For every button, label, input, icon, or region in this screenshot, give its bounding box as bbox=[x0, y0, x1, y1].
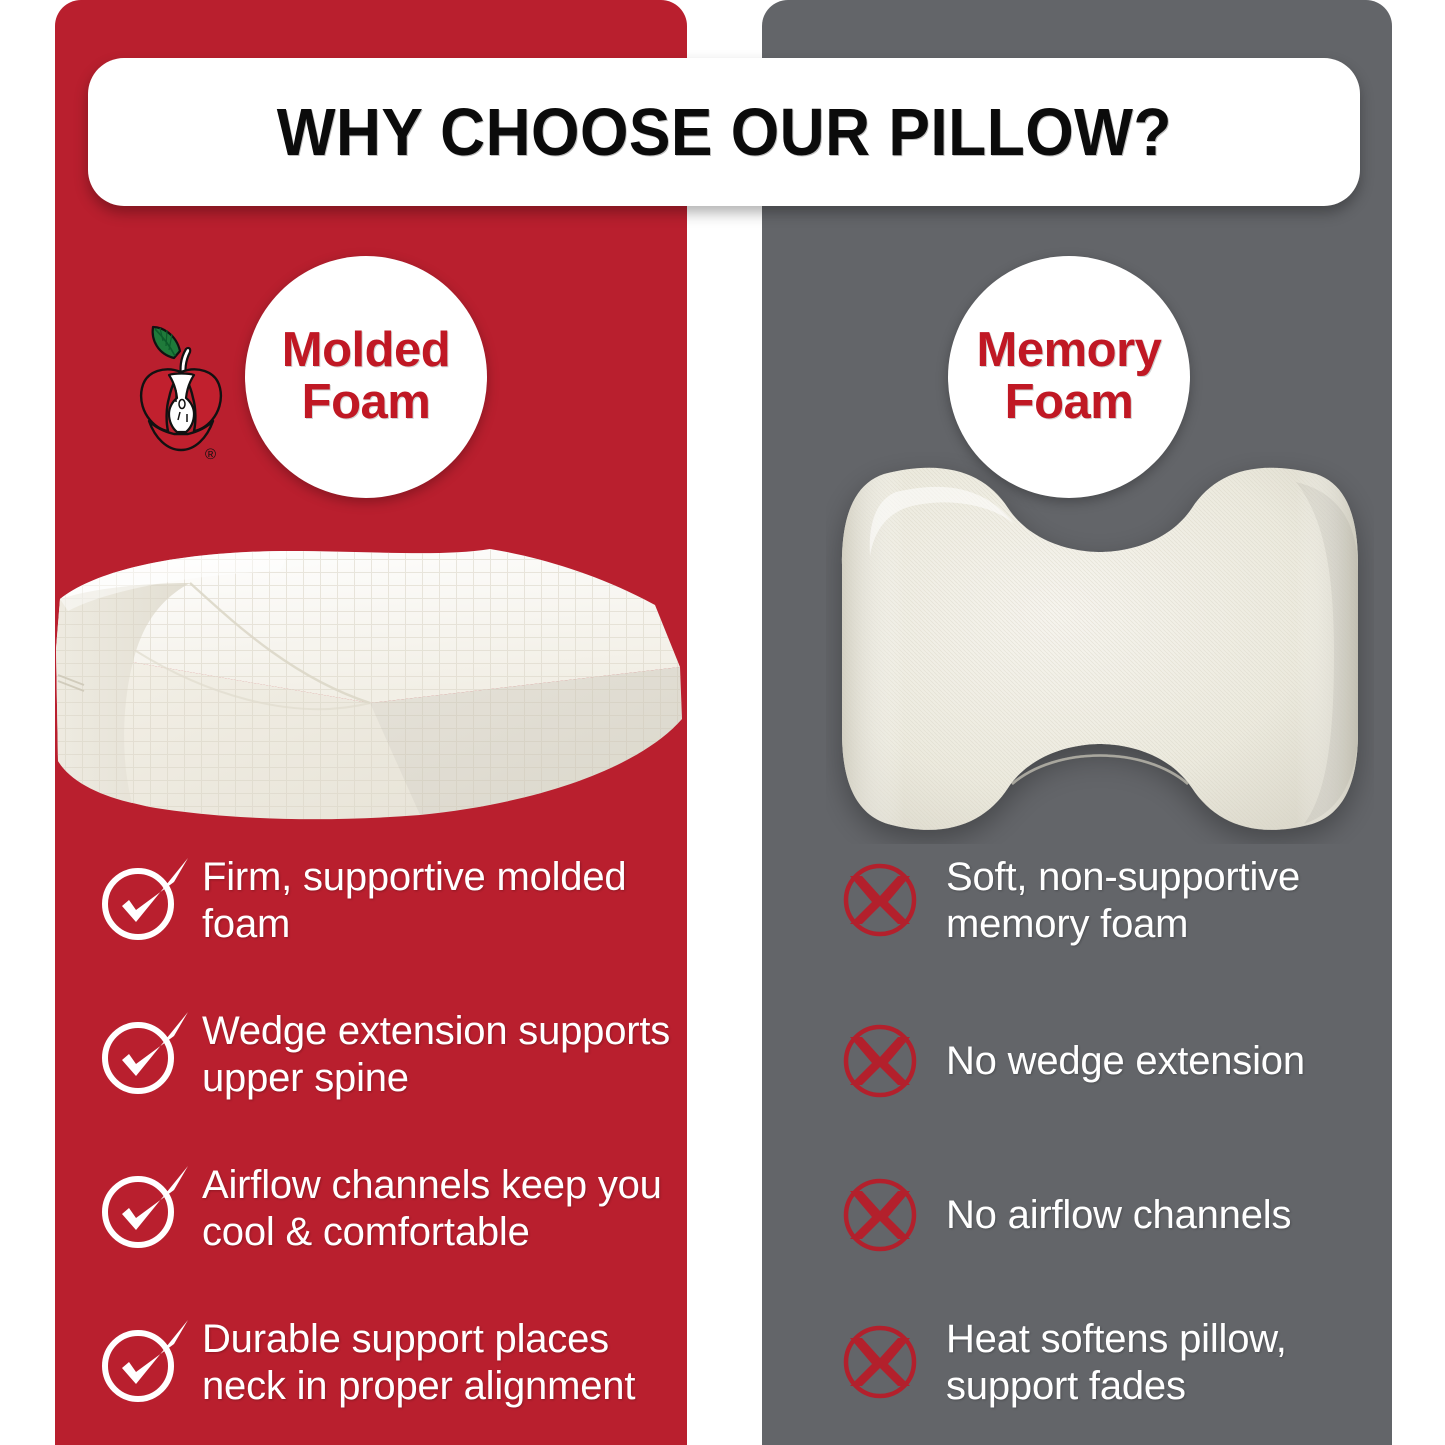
molded-foam-feature-list: Firm, supportive molded foam Wedge exten… bbox=[96, 852, 676, 1424]
x-circle-icon bbox=[832, 1013, 928, 1109]
list-item-label: Durable support places neck in proper al… bbox=[202, 1314, 672, 1410]
check-circle-icon bbox=[96, 852, 192, 948]
list-item: Heat softens pillow, support fades bbox=[832, 1314, 1372, 1424]
registered-trademark-mark: ® bbox=[205, 446, 216, 463]
badge-molded-foam-line1: Molded bbox=[282, 325, 450, 377]
comparison-infographic: WHY CHOOSE OUR PILLOW? ® Mo bbox=[0, 0, 1445, 1445]
list-item: Wedge extension supports upper spine bbox=[96, 1006, 676, 1116]
list-item-label: Firm, supportive molded foam bbox=[202, 852, 672, 948]
memory-foam-bone-pillow-image bbox=[826, 452, 1374, 844]
list-item-label: Heat softens pillow, support fades bbox=[946, 1314, 1372, 1410]
x-circle-icon bbox=[832, 1314, 928, 1410]
list-item: No airflow channels bbox=[832, 1160, 1372, 1270]
check-circle-icon bbox=[96, 1160, 192, 1256]
list-item: No wedge extension bbox=[832, 1006, 1372, 1116]
molded-foam-wedge-pillow-image bbox=[40, 527, 720, 827]
list-item-label: No airflow channels bbox=[946, 1192, 1372, 1239]
check-circle-icon bbox=[96, 1006, 192, 1102]
title-banner: WHY CHOOSE OUR PILLOW? bbox=[88, 58, 1360, 206]
badge-molded-foam-line2: Foam bbox=[302, 377, 431, 429]
badge-memory-foam-line1: Memory bbox=[977, 325, 1162, 377]
list-item-label: Soft, non-supportive memory foam bbox=[946, 852, 1372, 948]
badge-memory-foam: Memory Foam bbox=[948, 256, 1190, 498]
list-item: Firm, supportive molded foam bbox=[96, 852, 676, 962]
list-item: Durable support places neck in proper al… bbox=[96, 1314, 676, 1424]
page-title: WHY CHOOSE OUR PILLOW? bbox=[276, 94, 1171, 171]
list-item-label: No wedge extension bbox=[946, 1038, 1372, 1085]
list-item: Airflow channels keep you cool & comfort… bbox=[96, 1160, 676, 1270]
list-item: Soft, non-supportive memory foam bbox=[832, 852, 1372, 962]
x-circle-icon bbox=[832, 852, 928, 948]
badge-molded-foam: Molded Foam bbox=[245, 256, 487, 498]
memory-foam-feature-list: Soft, non-supportive memory foam No wedg… bbox=[832, 852, 1372, 1424]
list-item-label: Wedge extension supports upper spine bbox=[202, 1006, 672, 1102]
check-circle-icon bbox=[96, 1314, 192, 1410]
x-circle-icon bbox=[832, 1167, 928, 1263]
list-item-label: Airflow channels keep you cool & comfort… bbox=[202, 1160, 672, 1256]
badge-memory-foam-line2: Foam bbox=[1005, 377, 1134, 429]
